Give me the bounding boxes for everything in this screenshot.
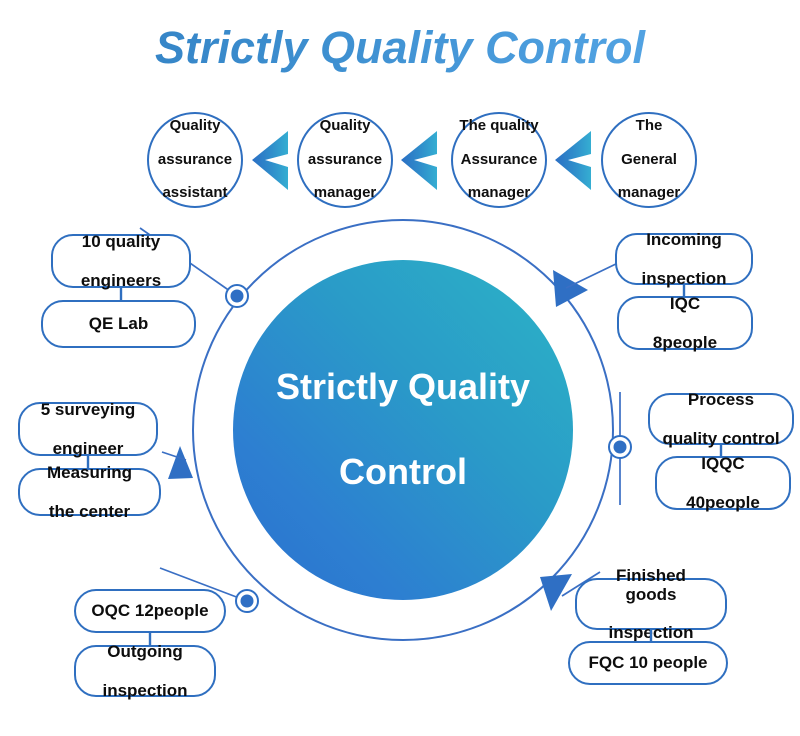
center-label-line-2: Control (258, 451, 548, 493)
chevron-left-icon-1 (252, 131, 288, 190)
box-line-1: Measuring (41, 463, 138, 482)
role-line-1: The quality (449, 118, 549, 135)
box-line-1: QE Lab (83, 314, 155, 333)
role-circle-the-quality-assurance-manager[interactable]: The quality Assurance manager (451, 112, 547, 208)
center-circle: Strictly Quality Control (233, 260, 573, 600)
ring-node-dot-top-left (226, 285, 248, 307)
branch-incoming-inspection-bottom-box[interactable]: IQC 8people (617, 296, 753, 350)
box-line-1: Outgoing (96, 642, 193, 661)
role-line-3: manager (295, 185, 395, 202)
chevron-left-icon-2 (401, 131, 437, 190)
box-line-1: Finished goods (583, 566, 719, 604)
role-line-3: manager (449, 185, 549, 202)
branch-outgoing-inspection-bottom-box[interactable]: Outgoing inspection (74, 645, 216, 697)
role-line-1: Quality (295, 118, 395, 135)
ring-node-dot-right (609, 436, 631, 458)
box-line-2: 8people (647, 333, 723, 352)
branch-qe-lab-top-box[interactable]: 10 quality engineers (51, 234, 191, 288)
branch-outgoing-inspection-top-box[interactable]: OQC 12people (74, 589, 226, 633)
branch-finished-goods-top-box[interactable]: Finished goods inspection (575, 578, 727, 630)
box-line-1: 10 quality (75, 232, 167, 251)
box-line-2: inspection (96, 681, 193, 700)
box-line-1: Incoming (635, 230, 732, 249)
branch-measuring-center-bottom-box[interactable]: Measuring the center (18, 468, 161, 516)
box-line-1: 5 surveying (35, 400, 142, 419)
branch-incoming-inspection-top-box[interactable]: Incoming inspection (615, 233, 753, 285)
infographic-canvas: Strictly Quality Control (0, 0, 800, 736)
branch-measuring-center-top-box[interactable]: 5 surveying engineer (18, 402, 158, 456)
connector-incoming-inspection (566, 262, 620, 288)
role-line-1: Quality (145, 118, 245, 135)
ring-arrowhead-left (168, 446, 193, 479)
role-line-3: manager (599, 185, 699, 202)
branch-finished-goods-bottom-box[interactable]: FQC 10 people (568, 641, 728, 685)
role-line-2: assurance (145, 152, 245, 169)
box-line-1: OQC 12people (85, 601, 214, 620)
branch-process-quality-control-top-box[interactable]: Process quality control (648, 393, 794, 445)
role-circle-qa-assistant[interactable]: Quality assurance assistant (147, 112, 243, 208)
role-circle-qa-manager[interactable]: Quality assurance manager (297, 112, 393, 208)
role-line-2: assurance (295, 152, 395, 169)
role-line-2: Assurance (449, 152, 549, 169)
branch-process-quality-control-bottom-box[interactable]: IQQC 40people (655, 456, 791, 510)
role-line-1: The (599, 118, 699, 135)
branch-qe-lab-bottom-box[interactable]: QE Lab (41, 300, 196, 348)
box-line-1: Process (656, 390, 785, 409)
box-line-1: IQC (647, 294, 723, 313)
role-line-2: General (599, 152, 699, 169)
branch-qe-lab-link (118, 287, 124, 301)
ring-arrowhead-top-right (553, 270, 588, 307)
box-line-2: 40people (680, 493, 766, 512)
box-line-1: FQC 10 people (582, 653, 713, 672)
box-line-1: IQQC (680, 454, 766, 473)
box-line-2: the center (41, 502, 138, 521)
center-label-line-1: Strictly Quality (258, 366, 548, 408)
role-circle-the-general-manager[interactable]: The General manager (601, 112, 697, 208)
role-line-3: assistant (145, 185, 245, 202)
ring-node-dot-bottom-left (236, 590, 258, 612)
chevron-left-icon-3 (555, 131, 591, 190)
